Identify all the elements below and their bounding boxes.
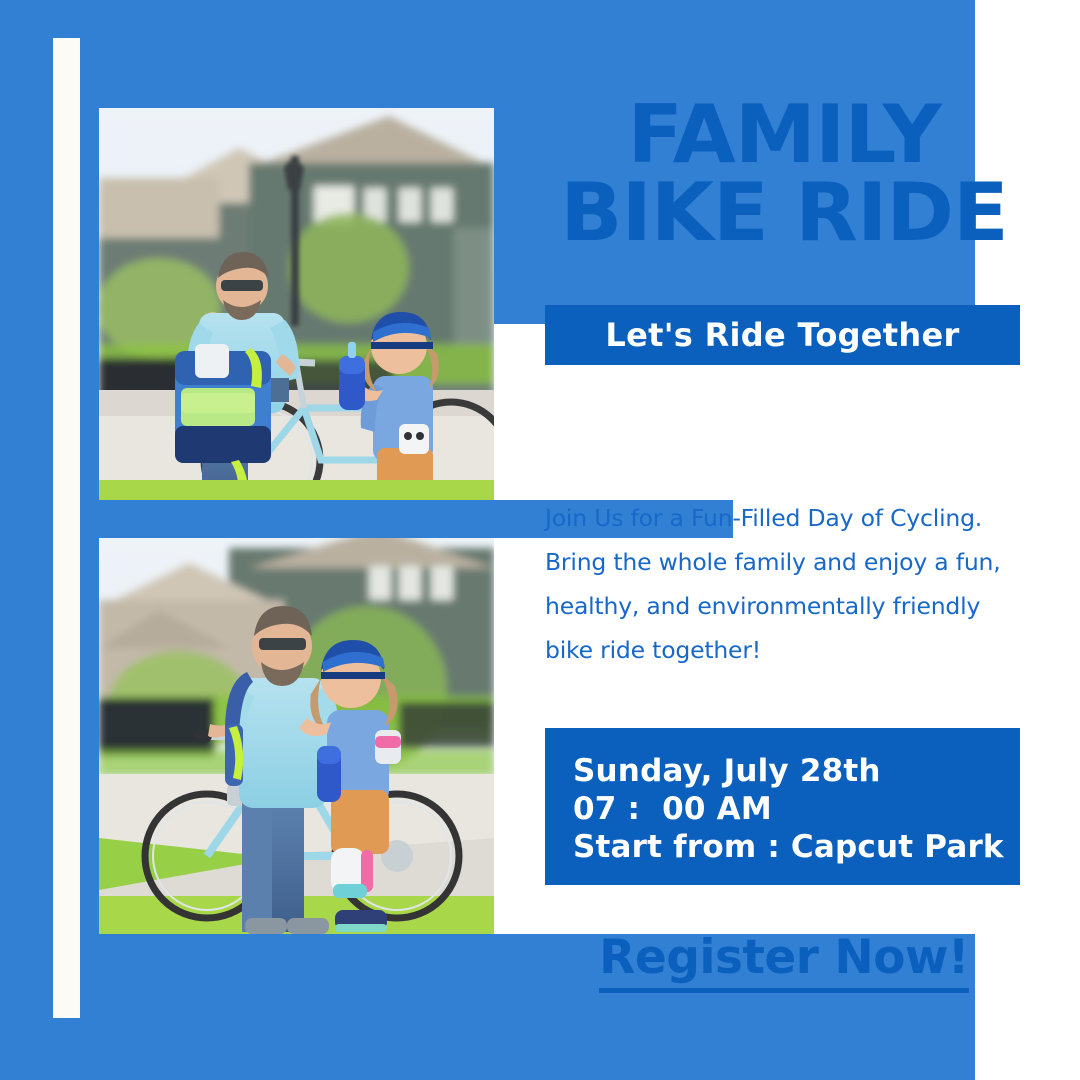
- photo-father-and-child-hugging: [99, 538, 494, 934]
- page-title: FAMILY BIKE RIDE: [540, 96, 1028, 251]
- photo-1-illustration: [99, 108, 494, 500]
- headline-line-1: FAMILY: [540, 96, 1028, 174]
- event-location: Start from : Capcut Park: [573, 828, 1008, 866]
- tagline-banner: Let's Ride Together: [545, 305, 1020, 365]
- tagline-text: Let's Ride Together: [605, 316, 959, 354]
- headline-line-2: BIKE RIDE: [540, 174, 1028, 252]
- register-now-link[interactable]: Register Now!: [599, 930, 969, 993]
- register-cta[interactable]: Register Now!: [545, 930, 1023, 993]
- poster-canvas: FAMILY BIKE RIDE Let's Ride Together Joi…: [0, 0, 1080, 1080]
- event-date: Sunday, July 28th: [573, 752, 1008, 790]
- photo-father-and-child-with-backpack: [99, 108, 494, 500]
- cream-accent-stripe: [53, 38, 80, 1018]
- event-details-box: Sunday, July 28th 07 : 00 AM Start from …: [545, 728, 1020, 885]
- description-paragraph: Join Us for a Fun-Filled Day of Cycling.…: [545, 496, 1023, 672]
- event-time: 07 : 00 AM: [573, 790, 1008, 828]
- photo-2-illustration: [99, 538, 494, 934]
- content-column: FAMILY BIKE RIDE Let's Ride Together Joi…: [545, 0, 1023, 1080]
